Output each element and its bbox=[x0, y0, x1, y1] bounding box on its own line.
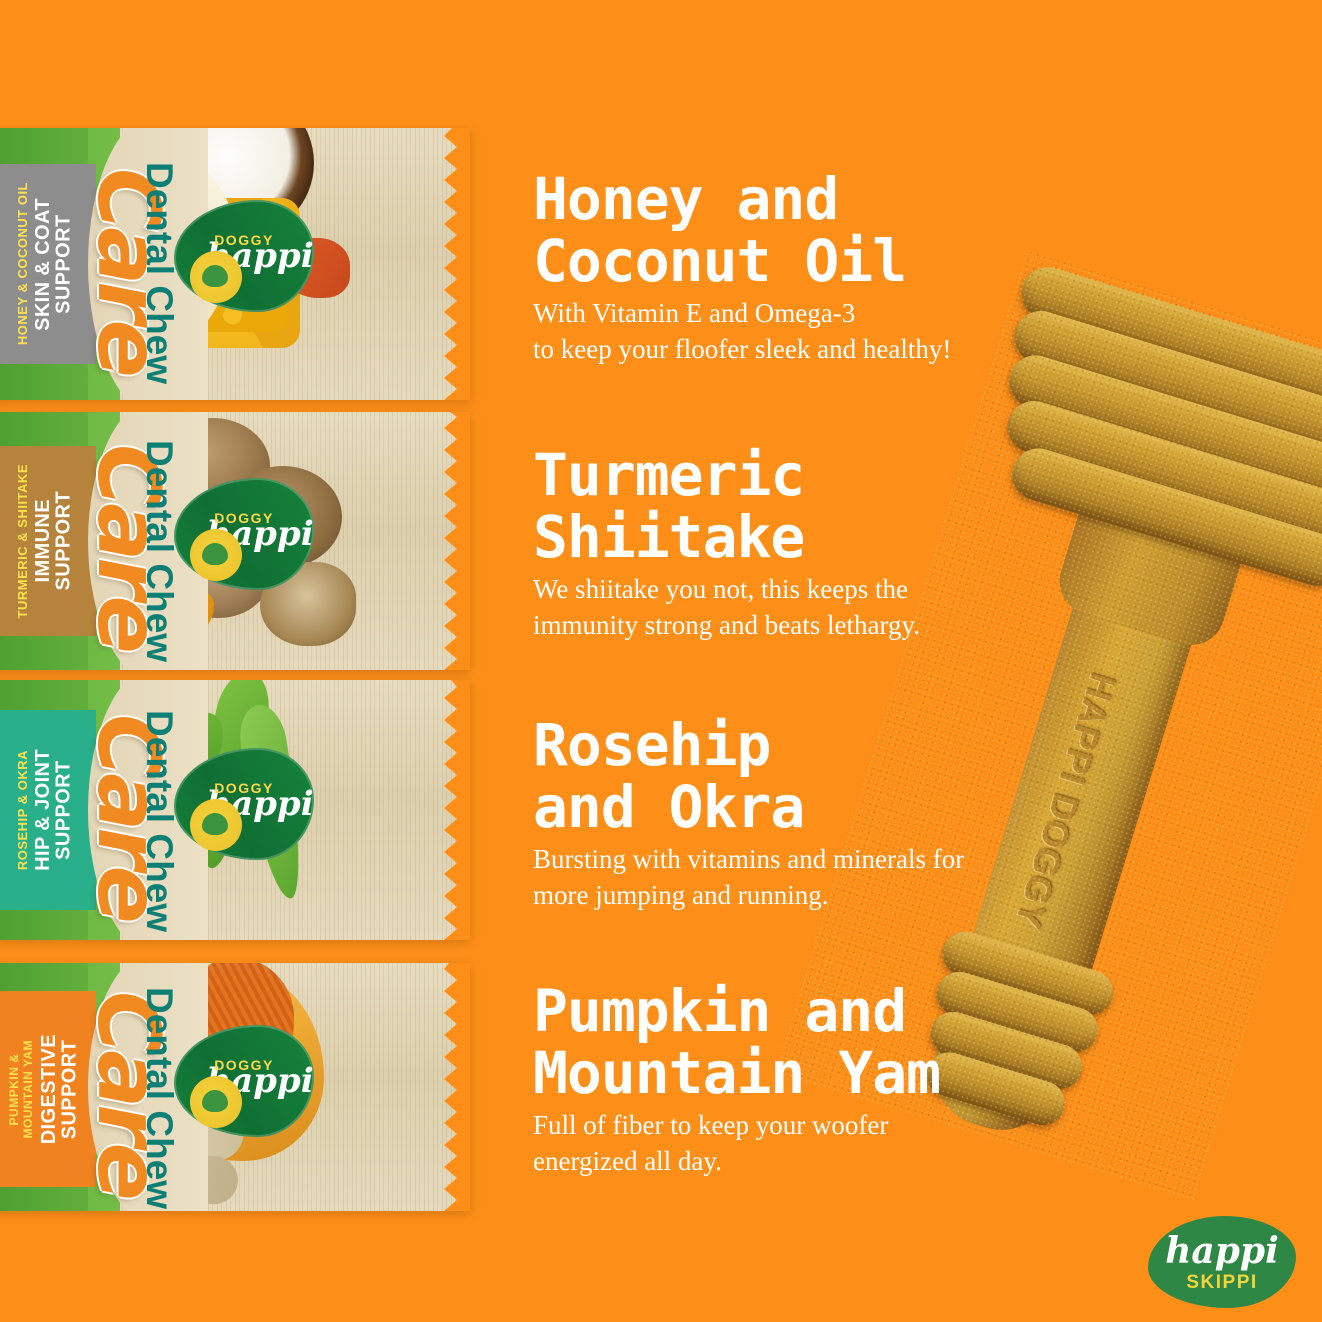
packet-tear-edge bbox=[444, 412, 470, 670]
feature-description: With Vitamin E and Omega-3 to keep your … bbox=[533, 296, 1133, 368]
packet-ingredients-label: PUMPKIN & MOUNTAIN YAM bbox=[8, 1040, 36, 1138]
packet-tear-edge bbox=[444, 680, 470, 940]
feature-description: Full of fiber to keep your woofer energi… bbox=[533, 1108, 1133, 1180]
happi-skippi-logo: happi SKIPPI bbox=[1148, 1216, 1296, 1308]
feature-turmeric-shiitake: Turmeric Shiitake We shiitake you not, t… bbox=[533, 444, 1133, 644]
packet-hip-joint: HIP & JOINT SUPPORT ROSEHIP & OKRA Care … bbox=[0, 680, 470, 940]
feature-title: Pumpkin and Mountain Yam bbox=[533, 980, 1133, 1104]
badge-sub-brand: DOGGY bbox=[214, 1057, 274, 1073]
packet-ingredients-label: HONEY & COCONUT OIL bbox=[15, 182, 30, 345]
packet-stack: SKIN & COAT SUPPORT HONEY & COCONUT OIL … bbox=[0, 0, 500, 1322]
packet-happi-doggy-badge: happi DOGGY bbox=[174, 478, 314, 590]
packet-support-label: HIP & JOINT SUPPORT bbox=[33, 749, 74, 871]
feature-rosehip-okra: Rosehip and Okra Bursting with vitamins … bbox=[533, 714, 1133, 914]
feature-title: Honey and Coconut Oil bbox=[533, 168, 1133, 292]
feature-title: Turmeric Shiitake bbox=[533, 444, 1133, 568]
feature-text-column: Honey and Coconut Oil With Vitamin E and… bbox=[533, 0, 1133, 1322]
badge-sub-brand: DOGGY bbox=[214, 232, 274, 248]
dog-silhouette-icon bbox=[190, 799, 242, 851]
packet-tear-edge bbox=[444, 963, 470, 1211]
feature-honey-coconut: Honey and Coconut Oil With Vitamin E and… bbox=[533, 168, 1133, 368]
logo-brand-text: happi bbox=[1165, 1230, 1279, 1272]
feature-pumpkin-yam: Pumpkin and Mountain Yam Full of fiber t… bbox=[533, 980, 1133, 1180]
packet-digestive: DIGESTIVE SUPPORT PUMPKIN & MOUNTAIN YAM… bbox=[0, 963, 470, 1211]
packet-immune: IMMUNE SUPPORT TURMERIC & SHIITAKE Care … bbox=[0, 412, 470, 670]
packet-support-label: IMMUNE SUPPORT bbox=[33, 491, 74, 590]
packet-skin-coat: SKIN & COAT SUPPORT HONEY & COCONUT OIL … bbox=[0, 128, 470, 400]
feature-description: We shiitake you not, this keeps the immu… bbox=[533, 572, 1133, 644]
packet-happi-doggy-badge: happi DOGGY bbox=[174, 1025, 314, 1137]
poster-canvas: SKIN & COAT SUPPORT HONEY & COCONUT OIL … bbox=[0, 0, 1322, 1322]
badge-sub-brand: DOGGY bbox=[214, 780, 274, 796]
feature-title: Rosehip and Okra bbox=[533, 714, 1133, 838]
badge-sub-brand: DOGGY bbox=[214, 510, 274, 526]
dog-silhouette-icon bbox=[190, 1076, 242, 1128]
dog-silhouette-icon bbox=[190, 529, 242, 581]
packet-happi-doggy-badge: happi DOGGY bbox=[174, 748, 314, 860]
packet-ingredients-label: ROSEHIP & OKRA bbox=[15, 750, 30, 870]
packet-tear-edge bbox=[444, 128, 470, 400]
packet-ingredients-label: TURMERIC & SHIITAKE bbox=[15, 464, 30, 618]
packet-support-label: SKIN & COAT SUPPORT bbox=[33, 198, 74, 331]
dog-silhouette-icon bbox=[190, 251, 242, 303]
feature-description: Bursting with vitamins and minerals for … bbox=[533, 842, 1133, 914]
packet-support-label: DIGESTIVE SUPPORT bbox=[39, 1034, 80, 1144]
logo-sub-brand-text: SKIPPI bbox=[1186, 1272, 1257, 1294]
packet-happi-doggy-badge: happi DOGGY bbox=[174, 200, 314, 312]
